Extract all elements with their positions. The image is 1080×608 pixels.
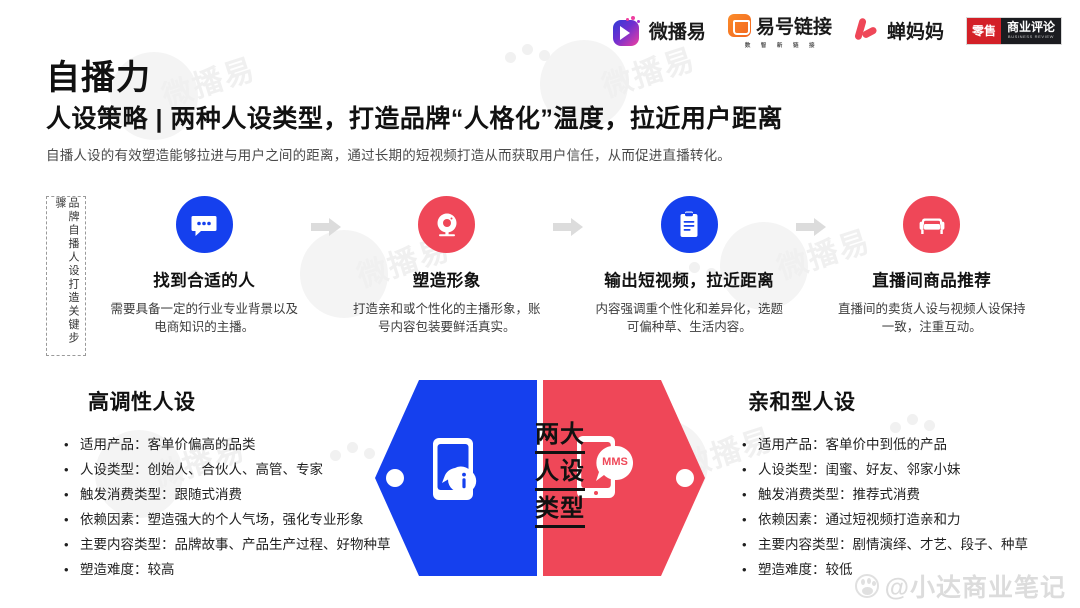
logo-yihaolianjie: 易号链接 数 智 新 链 接 xyxy=(728,12,832,49)
list-item: 依赖因素：塑造强大的个人气场，强化专业形象 xyxy=(62,507,442,532)
list-item: 依赖因素：通过短视频打造亲和力 xyxy=(740,507,1080,532)
list-item: 适用产品：客单价中到低的产品 xyxy=(740,432,1080,457)
step-title: 输出短视频，拉近距离 xyxy=(604,267,774,291)
list-item: 人设类型：闺蜜、好友、邻家小妹 xyxy=(740,457,1080,482)
logo-chanmama-label: 蝉妈妈 xyxy=(887,17,944,44)
logo-chanmama: 蝉妈妈 xyxy=(854,17,944,44)
step-card-3: 输出短视频，拉近距离 内容强调重个性化和差异化，选题可偏种草、生活内容。 xyxy=(585,196,794,336)
persona-right-title: 亲和型人设 xyxy=(740,386,1080,416)
center-label-line-1: 两大 xyxy=(535,420,585,454)
arrow-right-icon xyxy=(794,218,828,236)
page-description: 自播人设的有效塑造能够拉进与用户之间的距离，通过长期的短视频打造从而获取用户信任… xyxy=(46,144,731,164)
logo-lingshou-shangye-pinglun: 零售 商业评论 BUSINESS REVIEW xyxy=(966,17,1062,45)
list-item: 触发消费类型：跟随式消费 xyxy=(62,482,442,507)
steps-row: 品牌自播人设打造关键步骤 找到合适的人 需要具备一定的行业专业背景以及电商知识的… xyxy=(46,196,1036,358)
step-card-4: 直播间商品推荐 直播间的卖货人设与视频人设保持一致，注重互动。 xyxy=(828,196,1037,336)
step-desc: 内容强调重个性化和差异化，选题可偏种草、生活内容。 xyxy=(594,300,784,336)
step-title: 直播间商品推荐 xyxy=(872,267,991,291)
logo-yihaolianjie-sublabel: 数 智 新 链 接 xyxy=(741,41,819,49)
sofa-icon xyxy=(903,196,960,253)
step-title: 找到合适的人 xyxy=(153,267,255,291)
list-item: 适用产品：客单价偏高的品类 xyxy=(62,432,442,457)
logo-lingshou-label: 零售 xyxy=(967,18,1001,44)
persona-right-bullets: 适用产品：客单价中到低的产品 人设类型：闺蜜、好友、邻家小妹 触发消费类型：推荐… xyxy=(740,432,1080,582)
partner-logo-strip: 微播易 易号链接 数 智 新 链 接 蝉妈妈 零售 商业评论 BUSINESS … xyxy=(613,12,1062,49)
step-desc: 需要具备一定的行业专业背景以及电商知识的主播。 xyxy=(109,300,299,336)
logo-weiboyi: 微播易 xyxy=(613,16,706,46)
mms-label: MMS xyxy=(602,456,628,468)
vertical-label-box: 品牌自播人设打造关键步骤 xyxy=(46,196,86,356)
paw-icon xyxy=(855,574,879,598)
persona-left-bullets: 适用产品：客单价偏高的品类 人设类型：创始人、合伙人、高管、专家 触发消费类型：… xyxy=(62,432,442,582)
center-label: 两大 人设 类型 xyxy=(527,420,593,531)
slide-root: 微播易 微播易 微播易 微播易 微播易 微播易 微播易 易号链接 xyxy=(0,0,1080,608)
page-subtitle: 人设策略 | 两种人设类型，打造品牌“人格化”温度，拉近用户距离 xyxy=(46,99,783,135)
play-circle-icon xyxy=(613,16,643,46)
center-label-line-3: 类型 xyxy=(535,494,585,528)
logo-shangye-pinglun-label: 商业评论 xyxy=(1007,21,1055,33)
chat-bubble-icon xyxy=(176,196,233,253)
check-swoosh-icon xyxy=(854,17,881,44)
step-card-1: 找到合适的人 需要具备一定的行业专业背景以及电商知识的主播。 xyxy=(100,196,309,336)
step-title: 塑造形象 xyxy=(413,267,481,291)
cart-icon xyxy=(728,14,751,37)
logo-weiboyi-label: 微播易 xyxy=(649,17,706,44)
list-item: 主要内容类型：剧情演绎、才艺、段子、种草 xyxy=(740,532,1080,557)
vertical-label-text: 品牌自播人设打造关键步骤 xyxy=(53,197,79,355)
list-item: 主要内容类型：品牌故事、产品生产过程、好物种草 xyxy=(62,532,442,557)
step-card-2: 塑造形象 打造亲和或个性化的主播形象，账号内容包装要鲜活真实。 xyxy=(343,196,552,336)
page-title: 自播力 xyxy=(46,50,151,99)
webcam-icon xyxy=(418,196,475,253)
list-item: 塑造难度：较高 xyxy=(62,557,442,582)
arrow-right-icon xyxy=(309,218,343,236)
list-item: 人设类型：创始人、合伙人、高管、专家 xyxy=(62,457,442,482)
center-label-line-2: 人设 xyxy=(535,457,585,491)
corner-watermark: @小达商业笔记 xyxy=(855,568,1066,604)
arrow-right-icon xyxy=(551,218,585,236)
step-desc: 打造亲和或个性化的主播形象，账号内容包装要鲜活真实。 xyxy=(352,300,542,336)
logo-yihaolianjie-label: 易号链接 xyxy=(756,12,832,39)
clipboard-icon xyxy=(661,196,718,253)
persona-left-title: 高调性人设 xyxy=(62,386,442,416)
step-desc: 直播间的卖货人设与视频人设保持一致，注重互动。 xyxy=(837,300,1027,336)
persona-left-column: 高调性人设 适用产品：客单价偏高的品类 人设类型：创始人、合伙人、高管、专家 触… xyxy=(62,386,442,582)
list-item: 触发消费类型：推荐式消费 xyxy=(740,482,1080,507)
logo-shangye-pinglun-sublabel: BUSINESS REVIEW xyxy=(1008,33,1054,40)
persona-right-column: 亲和型人设 适用产品：客单价中到低的产品 人设类型：闺蜜、好友、邻家小妹 触发消… xyxy=(740,386,1080,582)
corner-watermark-label: @小达商业笔记 xyxy=(885,568,1066,604)
